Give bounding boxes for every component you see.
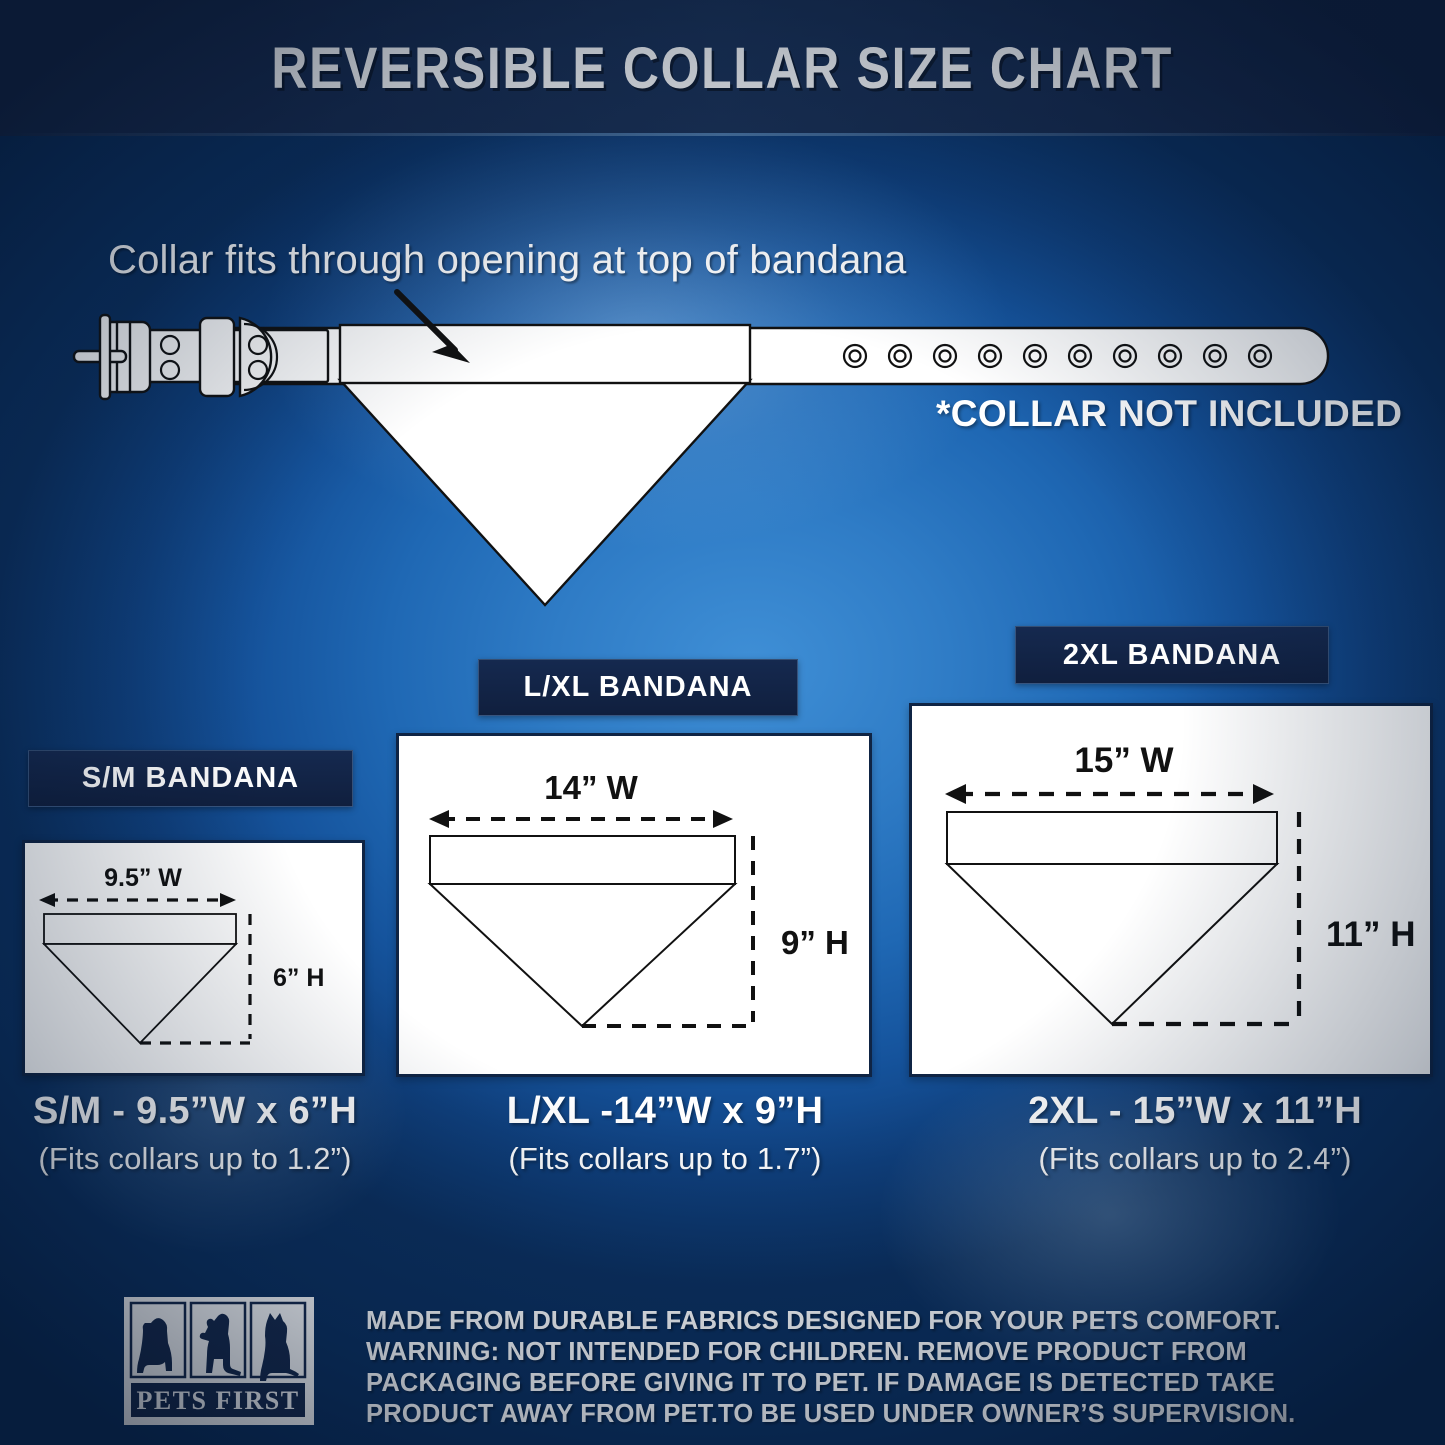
size-card-sm: 9.5” W 6” H bbox=[22, 840, 365, 1076]
sm-height-label: 6” H bbox=[273, 964, 324, 992]
size-caption-lxl-sub: (Fits collars up to 1.7”) bbox=[440, 1141, 890, 1177]
size-caption-sm-main: S/M - 9.5”W x 6”H bbox=[0, 1090, 390, 1133]
bandana-triangle bbox=[340, 380, 750, 605]
disclaimer-line: PACKAGING BEFORE GIVING IT TO PET. IF DA… bbox=[366, 1368, 1356, 1399]
buckle-icon bbox=[74, 315, 150, 399]
size-caption-xxl-sub: (Fits collars up to 2.4”) bbox=[960, 1141, 1430, 1177]
lxl-height-label: 9” H bbox=[781, 924, 849, 961]
sm-width-label: 9.5” W bbox=[104, 864, 182, 892]
size-card-lxl: 14” W 9” H bbox=[396, 733, 872, 1077]
size-caption-lxl: L/XL -14”W x 9”H (Fits collars up to 1.7… bbox=[440, 1090, 890, 1177]
size-caption-sm-sub: (Fits collars up to 1.2”) bbox=[0, 1141, 390, 1177]
bandana-sleeve-opening bbox=[340, 325, 750, 383]
size-caption-xxl-main: 2XL - 15”W x 11”H bbox=[960, 1090, 1430, 1133]
size-badge-sm-label: S/M BANDANA bbox=[82, 762, 299, 795]
lxl-width-label: 14” W bbox=[544, 769, 638, 806]
pets-first-logo-text: PETS FIRST bbox=[136, 1386, 299, 1415]
size-caption-lxl-main: L/XL -14”W x 9”H bbox=[440, 1090, 890, 1133]
keeper-loop-icon bbox=[200, 318, 234, 396]
footer-disclaimer: MADE FROM DURABLE FABRICS DESIGNED FOR Y… bbox=[366, 1306, 1356, 1430]
size-card-xxl: 15” W 11” H bbox=[909, 703, 1433, 1077]
size-caption-sm: S/M - 9.5”W x 6”H (Fits collars up to 1.… bbox=[0, 1090, 390, 1177]
pets-first-logo: PETS FIRST bbox=[124, 1297, 314, 1425]
xxl-height-label: 11” H bbox=[1326, 915, 1416, 954]
size-diagram-sm: 9.5” W 6” H bbox=[25, 843, 356, 1067]
size-badge-sm: S/M BANDANA bbox=[28, 750, 353, 807]
disclaimer-line: PRODUCT AWAY FROM PET.TO BE USED UNDER O… bbox=[366, 1399, 1356, 1430]
title-band: REVERSIBLE COLLAR SIZE CHART bbox=[0, 0, 1445, 136]
size-diagram-lxl: 14” W 9” H bbox=[399, 736, 863, 1068]
disclaimer-line: WARNING: NOT INTENDED FOR CHILDREN. REMO… bbox=[366, 1337, 1356, 1368]
size-chart-canvas: REVERSIBLE COLLAR SIZE CHART Collar fits… bbox=[0, 0, 1445, 1445]
xxl-width-label: 15” W bbox=[1074, 741, 1173, 780]
size-caption-xxl: 2XL - 15”W x 11”H (Fits collars up to 2.… bbox=[960, 1090, 1430, 1177]
page-title: REVERSIBLE COLLAR SIZE CHART bbox=[272, 35, 1174, 102]
disclaimer-line: MADE FROM DURABLE FABRICS DESIGNED FOR Y… bbox=[366, 1306, 1356, 1337]
collar-bandana-illustration: .wf{fill:#ffffff;stroke:#111111;stroke-w… bbox=[0, 260, 1445, 620]
size-diagram-xxl: 15” W 11” H bbox=[912, 706, 1424, 1068]
size-badge-lxl: L/XL BANDANA bbox=[478, 659, 798, 716]
size-badge-xxl-label: 2XL BANDANA bbox=[1063, 639, 1281, 672]
size-badge-xxl: 2XL BANDANA bbox=[1015, 626, 1329, 684]
size-badge-lxl-label: L/XL BANDANA bbox=[524, 671, 753, 704]
